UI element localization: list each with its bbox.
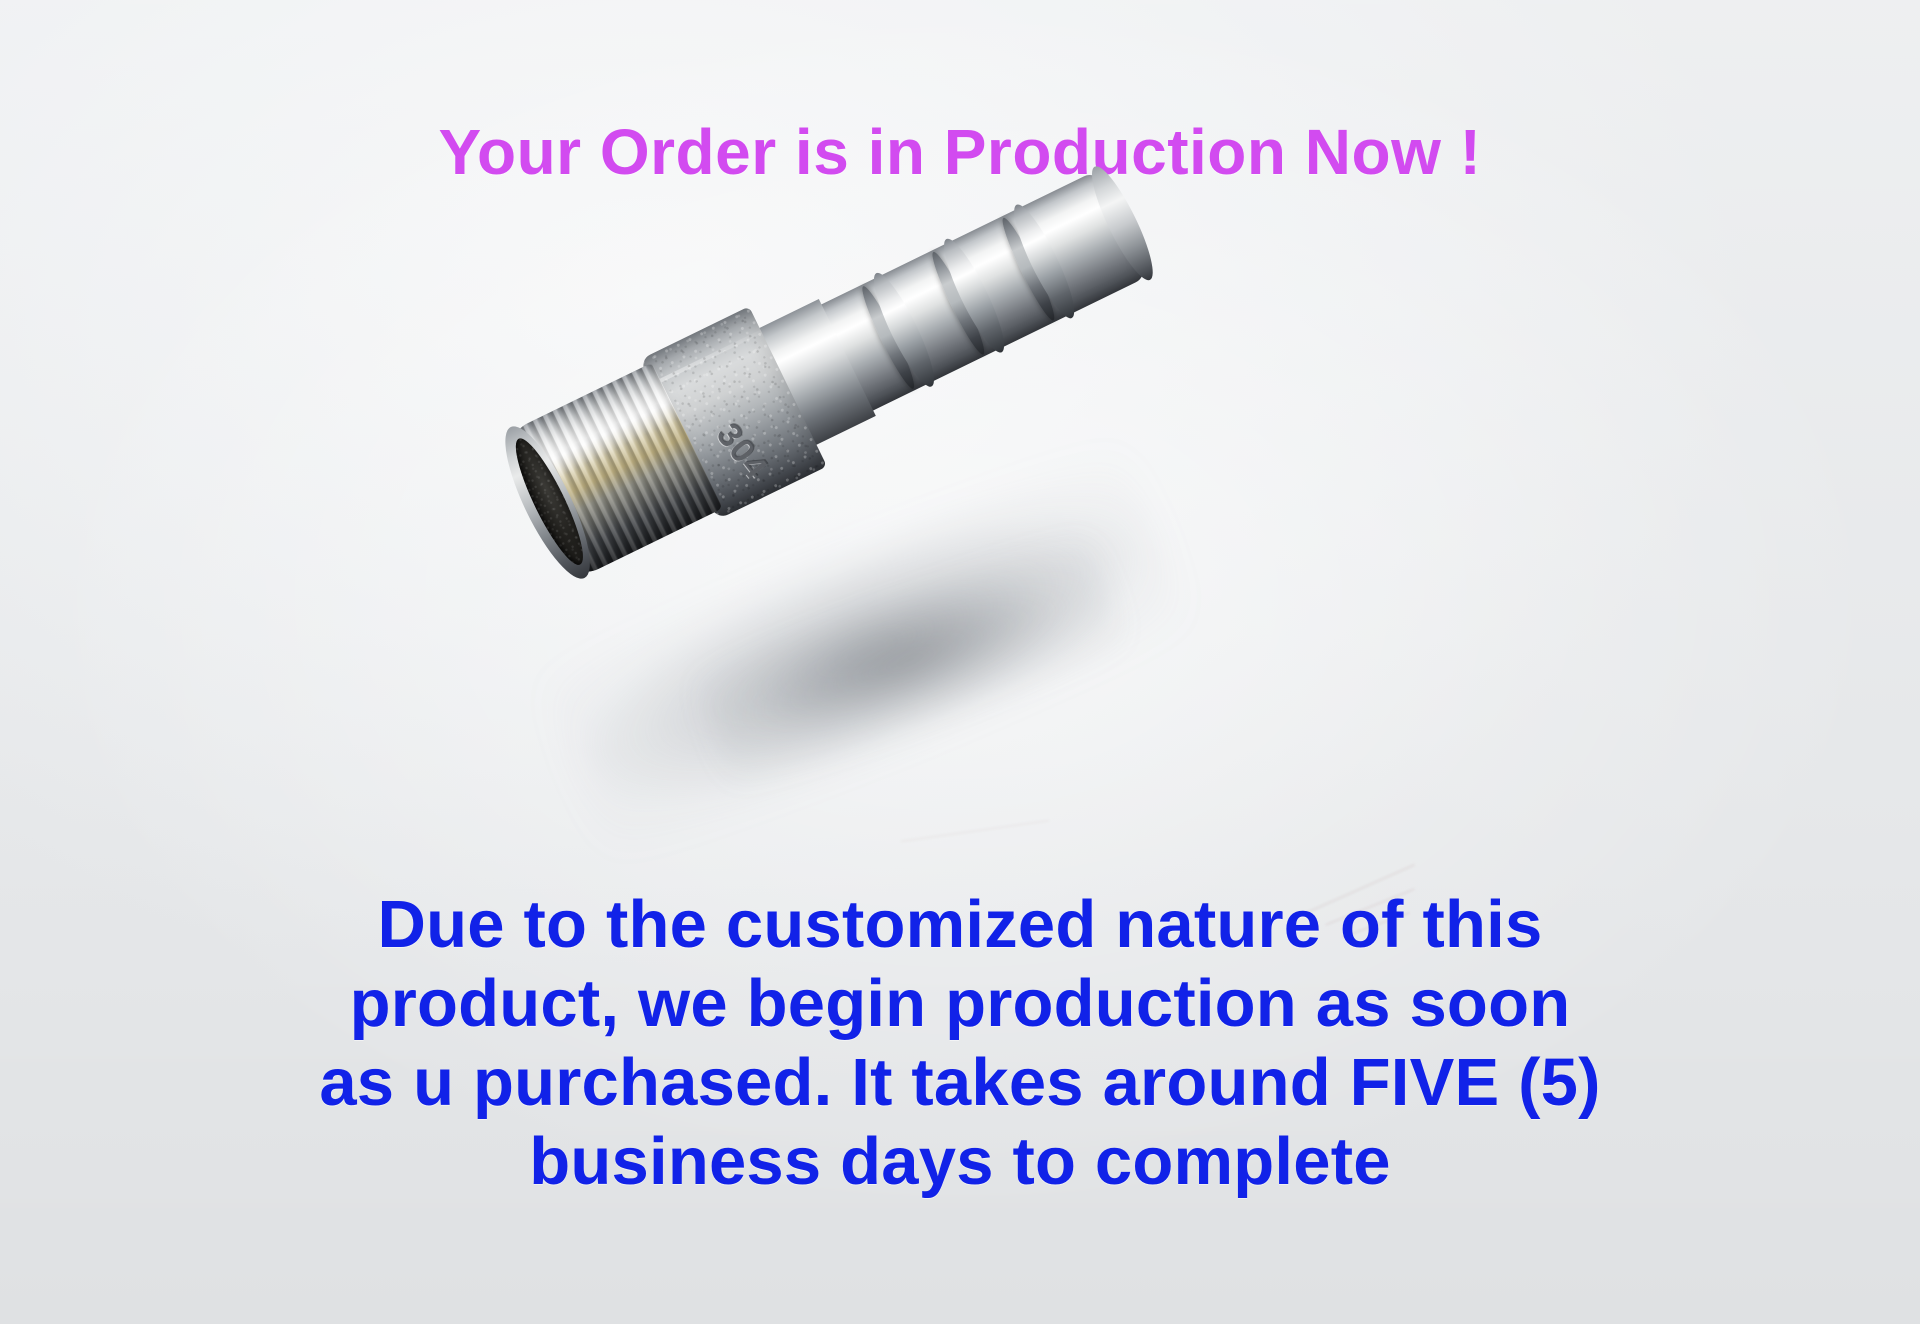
- message-line: business days to complete: [0, 1122, 1920, 1201]
- notice-graphic: Your Order is in Production Now ! 304: [0, 0, 1920, 1324]
- page-title: Your Order is in Production Now !: [0, 115, 1920, 189]
- production-notice-message: Due to the customized nature of this pro…: [0, 885, 1920, 1201]
- message-line: Due to the customized nature of this: [0, 885, 1920, 964]
- message-line: as u purchased. It takes around FIVE (5): [0, 1043, 1920, 1122]
- message-line: product, we begin production as soon: [0, 964, 1920, 1043]
